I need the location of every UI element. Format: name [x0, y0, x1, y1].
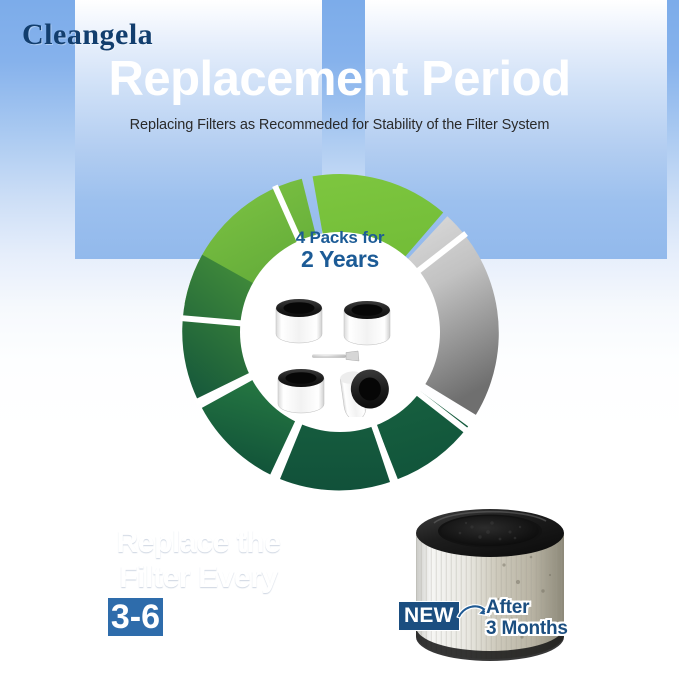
after-label-line2: 3 Months — [486, 618, 568, 639]
poster-root: Cleangela Replacement Period Replacing F… — [0, 0, 679, 679]
replace-line-1: Replace the — [75, 525, 322, 560]
months-suffix: Months — [163, 598, 289, 636]
filter-pack-image — [268, 282, 408, 417]
replace-line-3: 3-6 Months — [75, 597, 322, 638]
filter-cartridge-3 — [278, 369, 324, 413]
cleaning-brush-icon — [312, 351, 359, 361]
new-badge: NEW — [398, 601, 460, 631]
page-subtitle: Replacing Filters as Recommeded for Stab… — [0, 117, 679, 133]
brand-logo: Cleangela — [22, 18, 153, 52]
replace-message: Replace the Filter Every 3-6 Months — [75, 525, 322, 638]
months-highlight: 3-6 — [108, 598, 163, 636]
filter-cartridge-4 — [339, 367, 392, 417]
page-title: Replacement Period — [0, 55, 679, 104]
used-filter-photo — [400, 487, 590, 672]
filter-cartridge-1 — [276, 299, 322, 343]
replace-line-2: Filter Every — [75, 560, 322, 595]
filter-cartridge-2 — [344, 301, 390, 345]
after-label-line1: After — [486, 597, 568, 618]
after-months-label: After 3 Months — [486, 597, 568, 640]
